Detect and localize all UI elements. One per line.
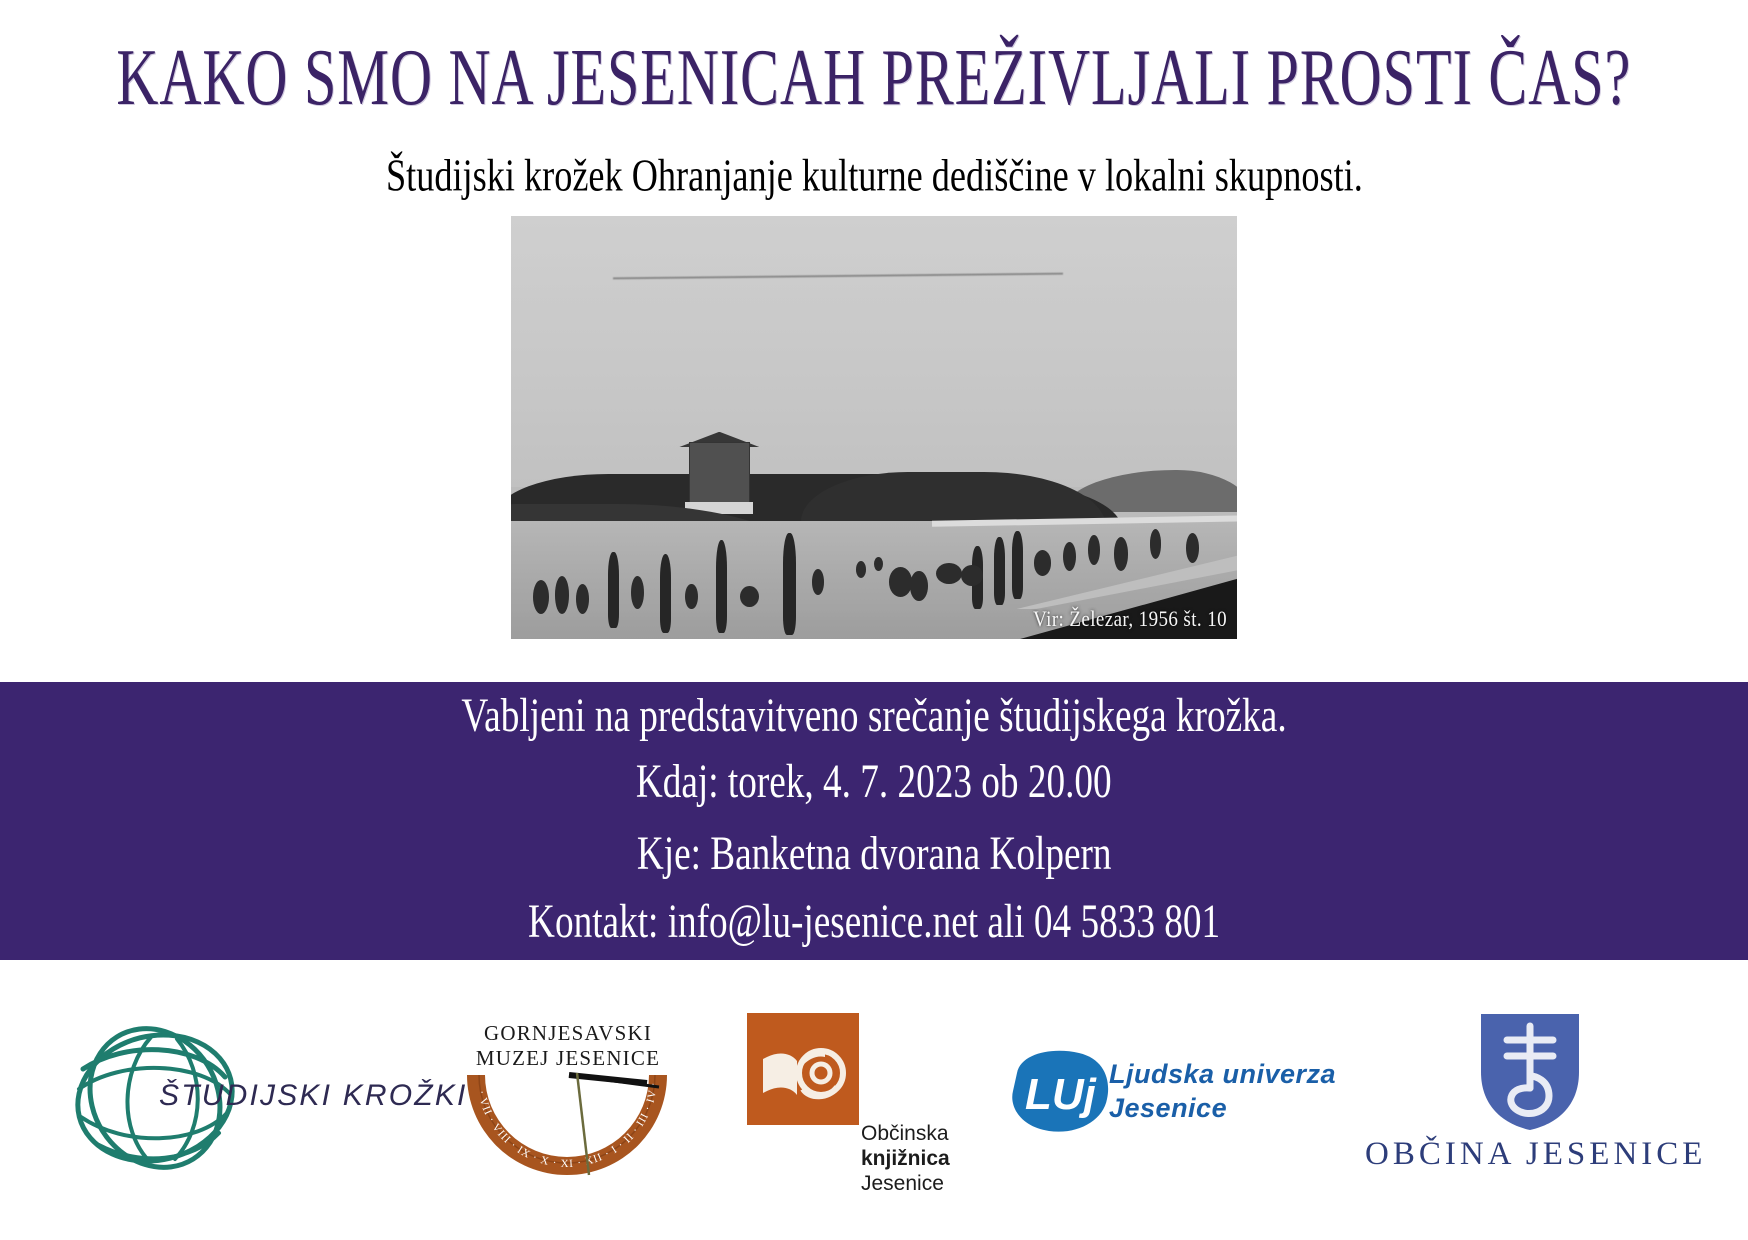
photo-figure-group bbox=[1063, 542, 1076, 572]
library-line-2: knjižnica bbox=[861, 1146, 950, 1171]
museum-line-1: GORNJESAVSKI bbox=[455, 1021, 681, 1046]
photo-figure-group bbox=[1088, 535, 1100, 565]
photo-figure bbox=[1012, 531, 1023, 599]
logo-ljudska-univerza-label: Ljudska univerza Jesenice bbox=[1109, 1057, 1336, 1125]
photo-credit: Vir: Železar, 1956 št. 10 bbox=[1033, 608, 1227, 633]
photo-figure bbox=[783, 533, 796, 635]
photo-figure-group bbox=[631, 576, 644, 610]
photo-figure-group bbox=[1034, 550, 1051, 575]
photo-figure bbox=[994, 537, 1005, 605]
photo-figure-group bbox=[740, 586, 759, 607]
svg-text:· VII · VIII · IX · X · XI · X: · VII · VIII · IX · X · XI · XII · I · I… bbox=[461, 1071, 660, 1170]
page-subtitle: Študijski krožek Ohranjanje kulturne ded… bbox=[386, 150, 1363, 202]
photo-figure-group bbox=[533, 580, 549, 614]
photo-figure-group bbox=[1114, 537, 1129, 571]
book-at-icon bbox=[747, 1013, 859, 1125]
luj-line-2: Jesenice bbox=[1109, 1091, 1336, 1125]
svg-text:LUj: LUj bbox=[1025, 1070, 1097, 1119]
photo-figure-group bbox=[812, 569, 824, 594]
sundial-icon: · VII · VIII · IX · X · XI · XII · I · I… bbox=[461, 1071, 673, 1188]
luj-mark-icon: LUj bbox=[1005, 1047, 1113, 1140]
photo-figure-group bbox=[961, 565, 983, 586]
photo-figure-group bbox=[555, 576, 570, 614]
photo-tower-building bbox=[689, 442, 750, 505]
logo-gornjesavski-muzej-label: GORNJESAVSKI MUZEJ JESENICE bbox=[455, 1021, 681, 1071]
logo-studijski-krozki-label: ŠTUDIJSKI KROŽKI bbox=[159, 1079, 468, 1113]
photo-sky bbox=[511, 216, 1237, 487]
contact-line: Kontakt: info@lu-jesenice.net ali 04 583… bbox=[528, 895, 1220, 950]
page-title: KAKO SMO NA JESENICAH PREŽIVLJALI PROSTI… bbox=[117, 30, 1632, 123]
sponsor-logo-strip: ŠTUDIJSKI KROŽKI GORNJESAVSKI MUZEJ JESE… bbox=[0, 960, 1748, 1240]
logo-gornjesavski-muzej: GORNJESAVSKI MUZEJ JESENICE · VII · VIII… bbox=[453, 1013, 683, 1183]
logo-obcinska-knjiznica: Občinska knjižnica Jesenice bbox=[729, 1011, 959, 1186]
details-band: Vabljeni na predstavitveno srečanje štud… bbox=[0, 682, 1748, 960]
where-line: Kje: Banketna dvorana Kolpern bbox=[637, 827, 1112, 882]
photo-figure-group bbox=[910, 571, 927, 601]
logo-obcina-jesenice-label: OBČINA JESENICE bbox=[1365, 1136, 1705, 1173]
library-mark-background bbox=[747, 1013, 859, 1125]
historical-photo: Vir: Železar, 1956 št. 10 bbox=[511, 216, 1237, 639]
subtitle-zone: Študijski krožek Ohranjanje kulturne ded… bbox=[0, 140, 1748, 212]
photo-figure-group bbox=[936, 563, 962, 584]
photo-figure-group bbox=[685, 584, 697, 609]
photo-figure bbox=[608, 552, 619, 628]
coat-of-arms-icon bbox=[1475, 1010, 1585, 1137]
photo-figure bbox=[716, 540, 728, 633]
photo-figure-group bbox=[889, 567, 912, 597]
library-line-3: Jesenice bbox=[861, 1171, 950, 1196]
photo-figure bbox=[660, 554, 672, 632]
library-line-1: Občinska bbox=[861, 1121, 950, 1146]
logo-obcina-jesenice: OBČINA JESENICE bbox=[1371, 1008, 1701, 1188]
luj-line-1: Ljudska univerza bbox=[1109, 1057, 1336, 1091]
photo-figure-group bbox=[856, 561, 866, 578]
logo-studijski-krozki: ŠTUDIJSKI KROŽKI bbox=[47, 1023, 407, 1173]
poster-root: KAKO SMO NA JESENICAH PREŽIVLJALI PROSTI… bbox=[0, 0, 1748, 1240]
logo-obcinska-knjiznica-label: Občinska knjižnica Jesenice bbox=[861, 1121, 950, 1196]
title-zone: KAKO SMO NA JESENICAH PREŽIVLJALI PROSTI… bbox=[0, 0, 1748, 140]
logo-ljudska-univerza: LUj Ljudska univerza Jesenice bbox=[1005, 1033, 1325, 1163]
when-line: Kdaj: torek, 4. 7. 2023 ob 20.00 bbox=[636, 755, 1112, 810]
invitation-line: Vabljeni na predstavitveno srečanje štud… bbox=[461, 689, 1286, 744]
museum-line-2: MUZEJ JESENICE bbox=[455, 1046, 681, 1071]
photo-zone: Vir: Železar, 1956 št. 10 bbox=[0, 212, 1748, 682]
